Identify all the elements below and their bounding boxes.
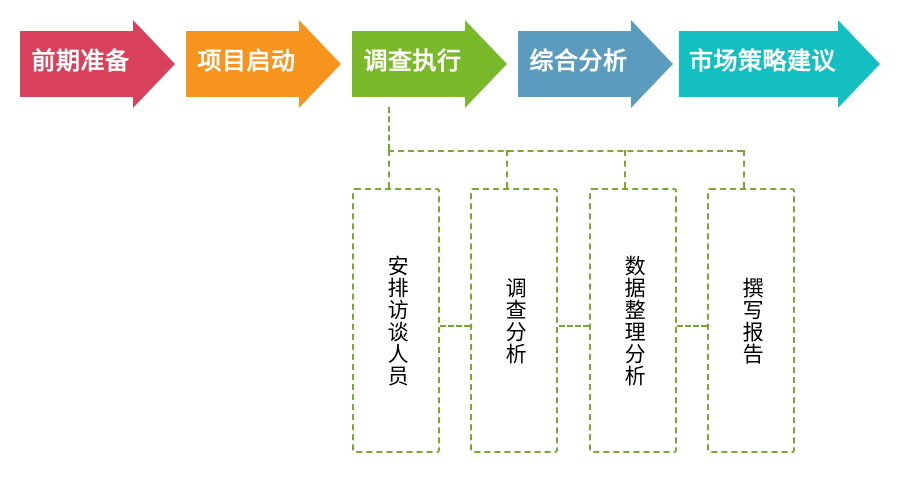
stage-arrow-4[interactable]: 综合分析 bbox=[518, 20, 673, 108]
connector-drop-3 bbox=[624, 150, 626, 188]
stage-arrow-label-3: 调查执行 bbox=[360, 50, 465, 74]
connector-stage-drop bbox=[388, 107, 390, 150]
diagram-canvas: 前期准备 项目启动 调查执行 综合分析 市场策略建议 安 bbox=[0, 0, 900, 480]
substep-label-3: 数据整理分析 bbox=[591, 190, 675, 451]
substep-box-3[interactable]: 数据整理分析 bbox=[589, 188, 677, 453]
connector-link-2-3 bbox=[559, 325, 589, 327]
substep-box-1[interactable]: 安排访谈人员 bbox=[352, 188, 440, 453]
stage-arrow-label-2: 项目启动 bbox=[194, 50, 299, 74]
substep-label-4: 撰写报告 bbox=[709, 190, 793, 451]
stage-arrow-2[interactable]: 项目启动 bbox=[186, 20, 341, 108]
stage-arrow-label-1: 前期准备 bbox=[28, 50, 133, 74]
stage-arrow-5[interactable]: 市场策略建议 bbox=[679, 20, 880, 108]
stage-arrow-label-5: 市场策略建议 bbox=[687, 50, 838, 74]
substep-box-4[interactable]: 撰写报告 bbox=[707, 188, 795, 453]
connector-link-3-4 bbox=[677, 325, 707, 327]
connector-drop-1 bbox=[388, 150, 390, 188]
stage-arrow-3[interactable]: 调查执行 bbox=[352, 20, 507, 108]
stage-arrow-label-4: 综合分析 bbox=[526, 50, 631, 74]
connector-drop-2 bbox=[506, 150, 508, 188]
substep-box-2[interactable]: 调查分析 bbox=[470, 188, 558, 453]
connector-bus bbox=[388, 150, 743, 152]
connector-drop-4 bbox=[743, 150, 745, 188]
connector-link-1-2 bbox=[440, 325, 470, 327]
substep-label-2: 调查分析 bbox=[472, 190, 556, 451]
substep-label-1: 安排访谈人员 bbox=[354, 190, 438, 451]
stage-arrow-1[interactable]: 前期准备 bbox=[20, 20, 175, 108]
